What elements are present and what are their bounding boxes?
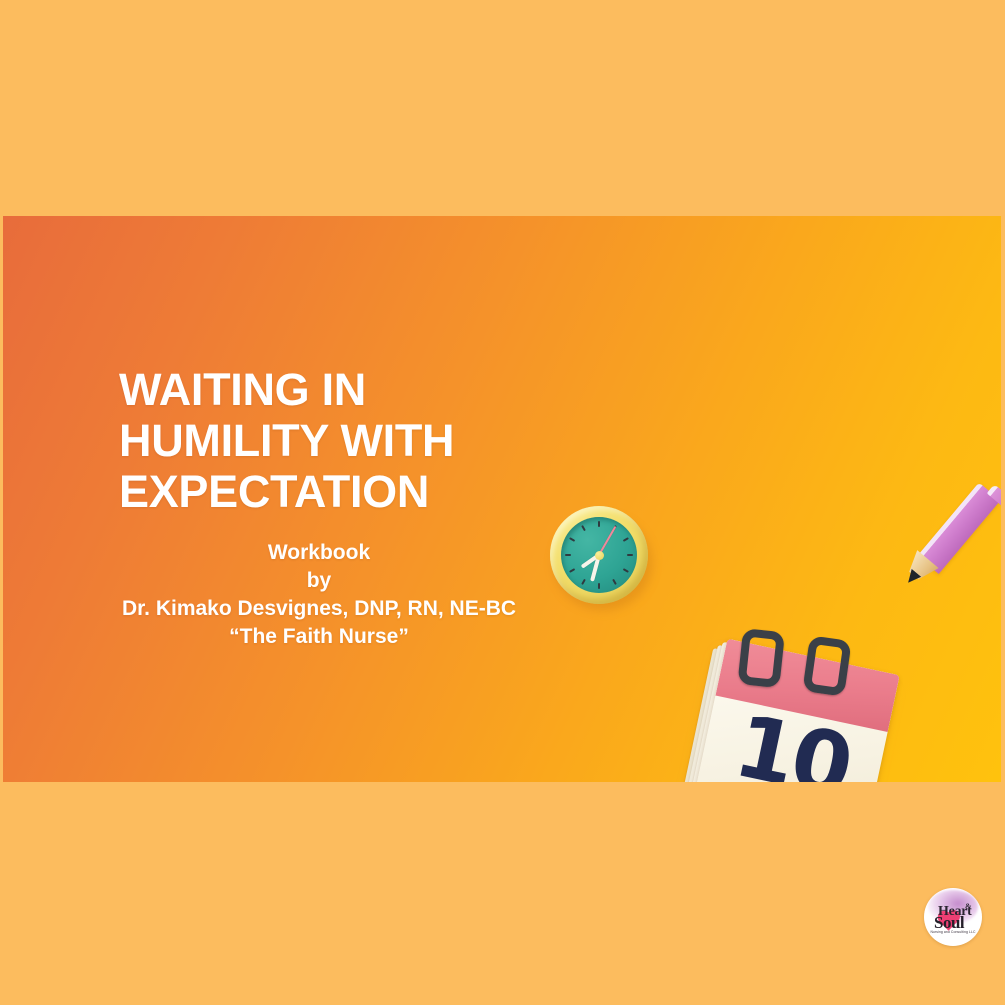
clock-icon [548,506,652,610]
pencil-body [917,482,1000,574]
clock-tick [612,579,617,585]
calendar-spiral-ring [737,628,785,688]
page-title: WAITING IN HUMILITY WITH EXPECTATION [119,364,519,517]
calendar-icon: 10 [671,628,907,782]
pencil-icon [896,463,996,596]
clock-tick [569,537,575,542]
clock-center-pin [595,551,604,560]
subtitle-line-workbook: Workbook [119,539,519,567]
clock-tick [623,537,629,542]
clock-tick [581,525,586,531]
logo-ampersand: & [965,902,972,911]
slide-subtitle: Workbook by Dr. Kimako Desvignes, DNP, R… [119,517,519,651]
clock-tick [623,568,629,573]
calendar-front-page: 10 [692,639,900,782]
clock-tick [598,521,600,527]
subtitle-line-nickname: “The Faith Nurse” [119,623,519,651]
clock-tick [627,554,633,556]
slide-canvas-page: WAITING IN HUMILITY WITH EXPECTATION Wor… [0,0,1005,1005]
clock-tick [598,583,600,589]
clock-tick [581,579,586,585]
subtitle-line-author: Dr. Kimako Desvignes, DNP, RN, NE-BC [119,595,519,623]
subtitle-line-by: by [119,567,519,595]
brand-logo: Heart & Soul Nursing and Consulting LLC [924,888,982,946]
clock-tick [569,568,575,573]
calendar-spiral-ring [802,635,851,696]
presentation-slide: WAITING IN HUMILITY WITH EXPECTATION Wor… [3,216,1001,782]
clock-tick [565,554,571,556]
slide-text-block: WAITING IN HUMILITY WITH EXPECTATION Wor… [119,364,519,651]
clock-face [561,517,637,593]
logo-tagline: Nursing and Consulting LLC [930,930,976,934]
